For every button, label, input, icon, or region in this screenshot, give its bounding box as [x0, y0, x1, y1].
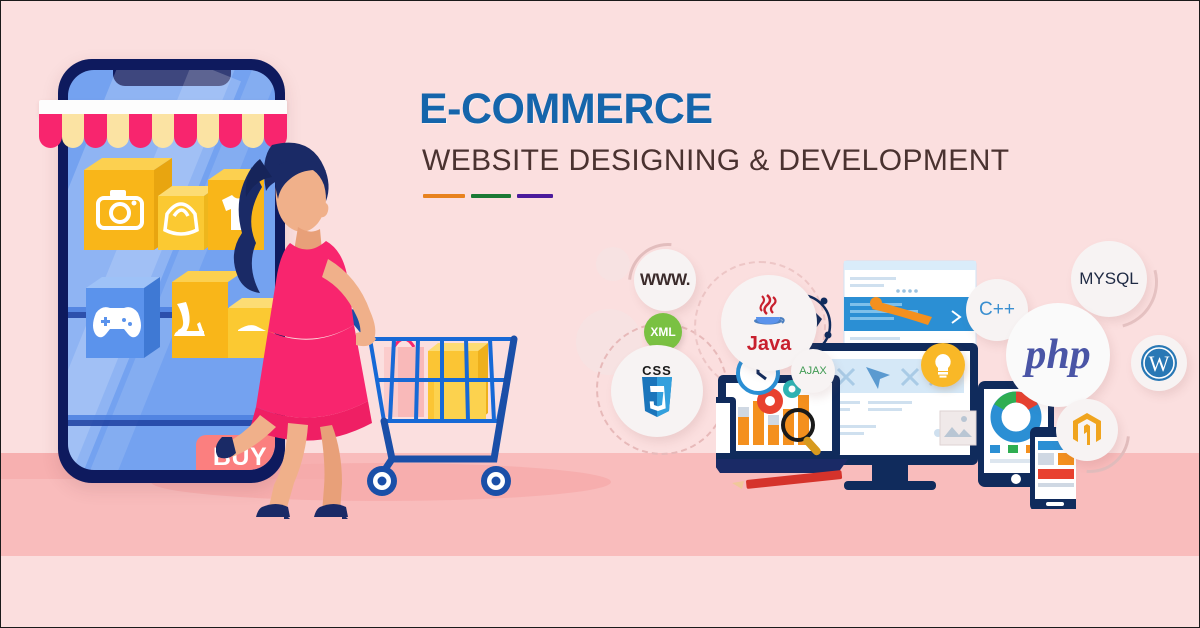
badge-php[interactable]: php — [1006, 303, 1110, 407]
page-title: E-COMMERCE — [419, 85, 1010, 134]
wordpress-icon: W — [1139, 343, 1179, 383]
badge-ajax-label: AJAX — [799, 365, 827, 377]
headline-block: E-COMMERCE WEBSITE DESIGNING & DEVELOPME… — [419, 85, 1010, 198]
badge-idea[interactable] — [921, 343, 965, 387]
badge-www[interactable]: WWW. — [634, 249, 696, 311]
ecommerce-banner: E-COMMERCE WEBSITE DESIGNING & DEVELOPME… — [0, 0, 1200, 628]
badge-ajax[interactable]: AJAX — [791, 349, 835, 393]
badge-magento[interactable] — [1056, 399, 1118, 461]
accent-rule-purple — [517, 194, 553, 198]
lightbulb-icon — [932, 352, 954, 378]
tech-stack-cluster: WWW. XML CSS Java AJAX — [566, 231, 1191, 521]
badge-mysql-label: MYSQL — [1079, 269, 1139, 289]
ghost-circle-small — [596, 247, 630, 281]
svg-text:W: W — [1149, 351, 1170, 376]
woman-dress — [250, 241, 372, 441]
badge-css3[interactable]: CSS — [611, 345, 703, 437]
accent-rule-row — [423, 194, 1010, 198]
secondary-monitor — [716, 397, 736, 459]
badge-wordpress[interactable]: W — [1131, 335, 1187, 391]
background-bottom-strip — [1, 556, 1199, 628]
magento-icon — [1071, 412, 1103, 448]
badge-php-label: php — [1025, 331, 1090, 379]
badge-cpp-label: C++ — [979, 299, 1015, 321]
css3-shield-icon — [640, 377, 674, 419]
badge-xml-label: XML — [650, 325, 675, 339]
accent-rule-green — [471, 194, 511, 198]
java-coffee-icon — [749, 291, 789, 331]
accent-rule-orange — [423, 194, 465, 198]
badge-mysql[interactable]: MYSQL — [1071, 241, 1147, 317]
badge-www-label: WWW. — [640, 270, 690, 290]
badge-css3-label: CSS — [642, 363, 672, 378]
page-subtitle: WEBSITE DESIGNING & DEVELOPMENT — [422, 144, 1010, 178]
woman-shopper-illustration — [216, 131, 396, 521]
badge-java-label: Java — [747, 333, 792, 356]
image-placeholder-card — [940, 411, 976, 445]
